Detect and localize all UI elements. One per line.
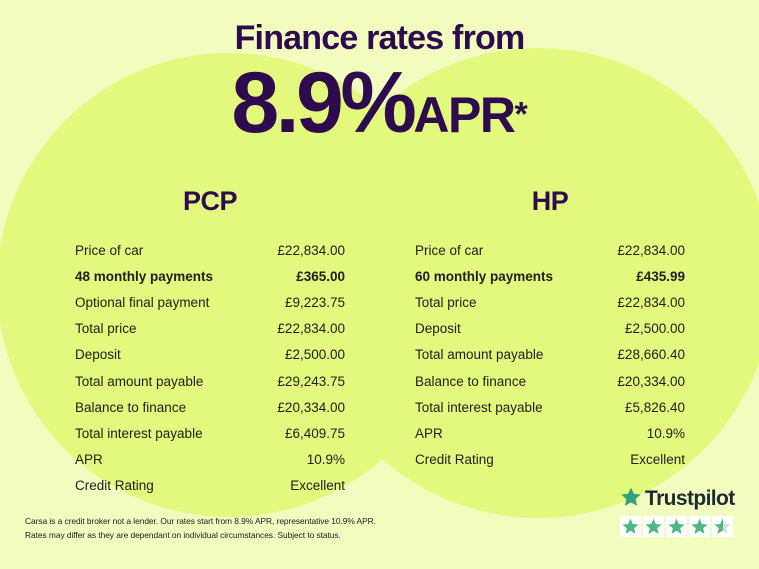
plan-row: Price of car£22,834.00 (75, 237, 345, 263)
disclaimer-text: Carsa is a credit broker not a lender. O… (25, 515, 445, 542)
trustpilot-star-icon (666, 516, 687, 537)
plan-row-label: Total price (75, 321, 137, 336)
plan-row: Price of car£22,834.00 (415, 237, 685, 263)
plan-row-label: APR (415, 426, 443, 441)
plan-row-value: £6,409.75 (285, 426, 345, 441)
plan-row-label: Total amount payable (415, 347, 543, 362)
plan-row-label: Optional final payment (75, 295, 209, 310)
plan-row: 48 monthly payments£365.00 (75, 263, 345, 289)
headline-rate: 8.9%APR* (0, 60, 759, 146)
plan-row: 60 monthly payments£435.99 (415, 263, 685, 289)
plan-row: Balance to finance£20,334.00 (415, 368, 685, 394)
trustpilot-wordmark-text: Trustpilot (645, 487, 735, 511)
plan-row: Credit RatingExcellent (75, 473, 345, 499)
plan-row-value: £22,834.00 (277, 321, 345, 336)
plan-hp: HP Price of car£22,834.0060 monthly paym… (415, 186, 685, 473)
trustpilot-logo: Trustpilot (620, 487, 740, 511)
rate-apr-label: APR (413, 87, 514, 143)
plan-row: Total amount payable£29,243.75 (75, 368, 345, 394)
plan-row-value: £9,223.75 (285, 295, 345, 310)
trustpilot-star-icon (689, 516, 710, 537)
plan-row-label: APR (75, 452, 103, 467)
plan-row: APR10.9% (75, 447, 345, 473)
plan-row-value: £5,826.40 (625, 400, 685, 415)
plan-row-label: Balance to finance (415, 374, 526, 389)
plan-row: APR10.9% (415, 420, 685, 446)
plan-row-label: 48 monthly payments (75, 269, 213, 284)
page-title: Finance rates from (0, 19, 759, 58)
plan-row-value: £29,243.75 (277, 374, 345, 389)
plan-row-value: £365.00 (296, 269, 345, 284)
plan-row: Balance to finance£20,334.00 (75, 394, 345, 420)
plan-row-label: Deposit (75, 347, 121, 362)
plan-row-value: £20,334.00 (277, 400, 345, 415)
plan-row-label: Total amount payable (75, 374, 203, 389)
plan-row-label: Credit Rating (75, 478, 154, 493)
plan-row-value: £435.99 (636, 269, 685, 284)
plan-row-label: Price of car (75, 243, 143, 258)
rate-percentage: 8.9% (231, 55, 413, 151)
plan-row: Deposit£2,500.00 (415, 316, 685, 342)
plan-row-value: £2,500.00 (285, 347, 345, 362)
plan-row-label: Deposit (415, 321, 461, 336)
trustpilot-rating[interactable]: Trustpilot (620, 487, 740, 537)
plan-row: Credit RatingExcellent (415, 447, 685, 473)
plan-row-value: Excellent (290, 478, 345, 493)
plan-pcp-rows: Price of car£22,834.0048 monthly payment… (75, 237, 345, 499)
plan-hp-rows: Price of car£22,834.0060 monthly payment… (415, 237, 685, 473)
plan-hp-title: HP (415, 186, 685, 217)
plan-row-label: Price of car (415, 243, 483, 258)
plan-row: Total price£22,834.00 (415, 289, 685, 315)
plan-row: Total price£22,834.00 (75, 316, 345, 342)
plan-row-value: £22,834.00 (617, 295, 685, 310)
rate-asterisk: * (514, 96, 527, 134)
plan-row-label: Balance to finance (75, 400, 186, 415)
plan-row-value: 10.9% (307, 452, 345, 467)
finance-rates-poster: Finance rates from 8.9%APR* PCP Price of… (0, 0, 759, 569)
plan-row: Deposit£2,500.00 (75, 342, 345, 368)
plan-row: Total interest payable£5,826.40 (415, 394, 685, 420)
trustpilot-star-icon (620, 486, 642, 513)
plan-row-value: £2,500.00 (625, 321, 685, 336)
plan-row-label: Total price (415, 295, 477, 310)
plan-row-value: 10.9% (647, 426, 685, 441)
plan-row: Total amount payable£28,660.40 (415, 342, 685, 368)
plan-pcp: PCP Price of car£22,834.0048 monthly pay… (75, 186, 345, 499)
plan-row-label: Total interest payable (75, 426, 203, 441)
plan-row: Total interest payable£6,409.75 (75, 420, 345, 446)
plan-row: Optional final payment£9,223.75 (75, 289, 345, 315)
trustpilot-stars (620, 516, 740, 537)
trustpilot-star-icon (712, 516, 733, 537)
trustpilot-star-icon (643, 516, 664, 537)
disclaimer-line-1: Carsa is a credit broker not a lender. O… (25, 515, 445, 529)
plan-row-label: Credit Rating (415, 452, 494, 467)
plan-row-value: Excellent (630, 452, 685, 467)
plan-row-label: Total interest payable (415, 400, 543, 415)
plan-row-value: £22,834.00 (277, 243, 345, 258)
disclaimer-line-2: Rates may differ as they are dependant o… (25, 529, 445, 543)
plan-row-value: £20,334.00 (617, 374, 685, 389)
trustpilot-star-icon (620, 516, 641, 537)
plan-row-label: 60 monthly payments (415, 269, 553, 284)
plan-pcp-title: PCP (75, 186, 345, 217)
plan-row-value: £28,660.40 (617, 347, 685, 362)
plan-row-value: £22,834.00 (617, 243, 685, 258)
